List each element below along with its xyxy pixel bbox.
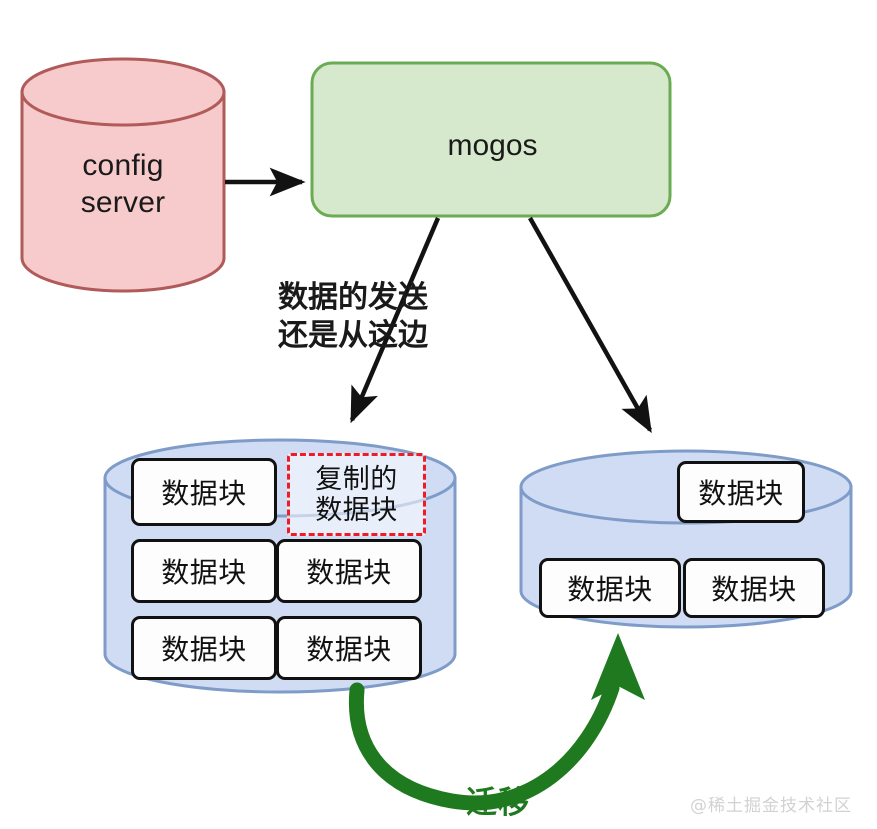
data-block[interactable]: 数据块	[539, 558, 681, 618]
data-block[interactable]: 数据块	[131, 616, 277, 680]
copied-data-block[interactable]: 复制的 数据块	[287, 453, 426, 536]
config-server-cylinder[interactable]	[22, 59, 224, 291]
data-block[interactable]: 数据块	[276, 539, 422, 603]
data-block[interactable]: 数据块	[276, 616, 422, 680]
arrow-mogos-to-right-shard	[530, 218, 650, 430]
data-block[interactable]: 数据块	[683, 558, 825, 618]
diagram-shapes	[0, 0, 877, 829]
data-block[interactable]: 数据块	[131, 458, 277, 526]
copied-block-line1: 复制的	[315, 464, 398, 495]
migrate-label: 迁移	[466, 777, 530, 822]
copied-block-line2: 数据块	[315, 495, 398, 526]
diagram-canvas: config server mogos 数据的发送 还是从这边 数据块 复制的 …	[0, 0, 877, 829]
data-block[interactable]: 数据块	[677, 461, 805, 523]
watermark: @稀土掘金技术社区	[690, 791, 852, 816]
mogos-box[interactable]	[312, 63, 670, 216]
flow-note-label: 数据的发送 还是从这边	[278, 279, 478, 356]
data-block[interactable]: 数据块	[131, 539, 277, 603]
